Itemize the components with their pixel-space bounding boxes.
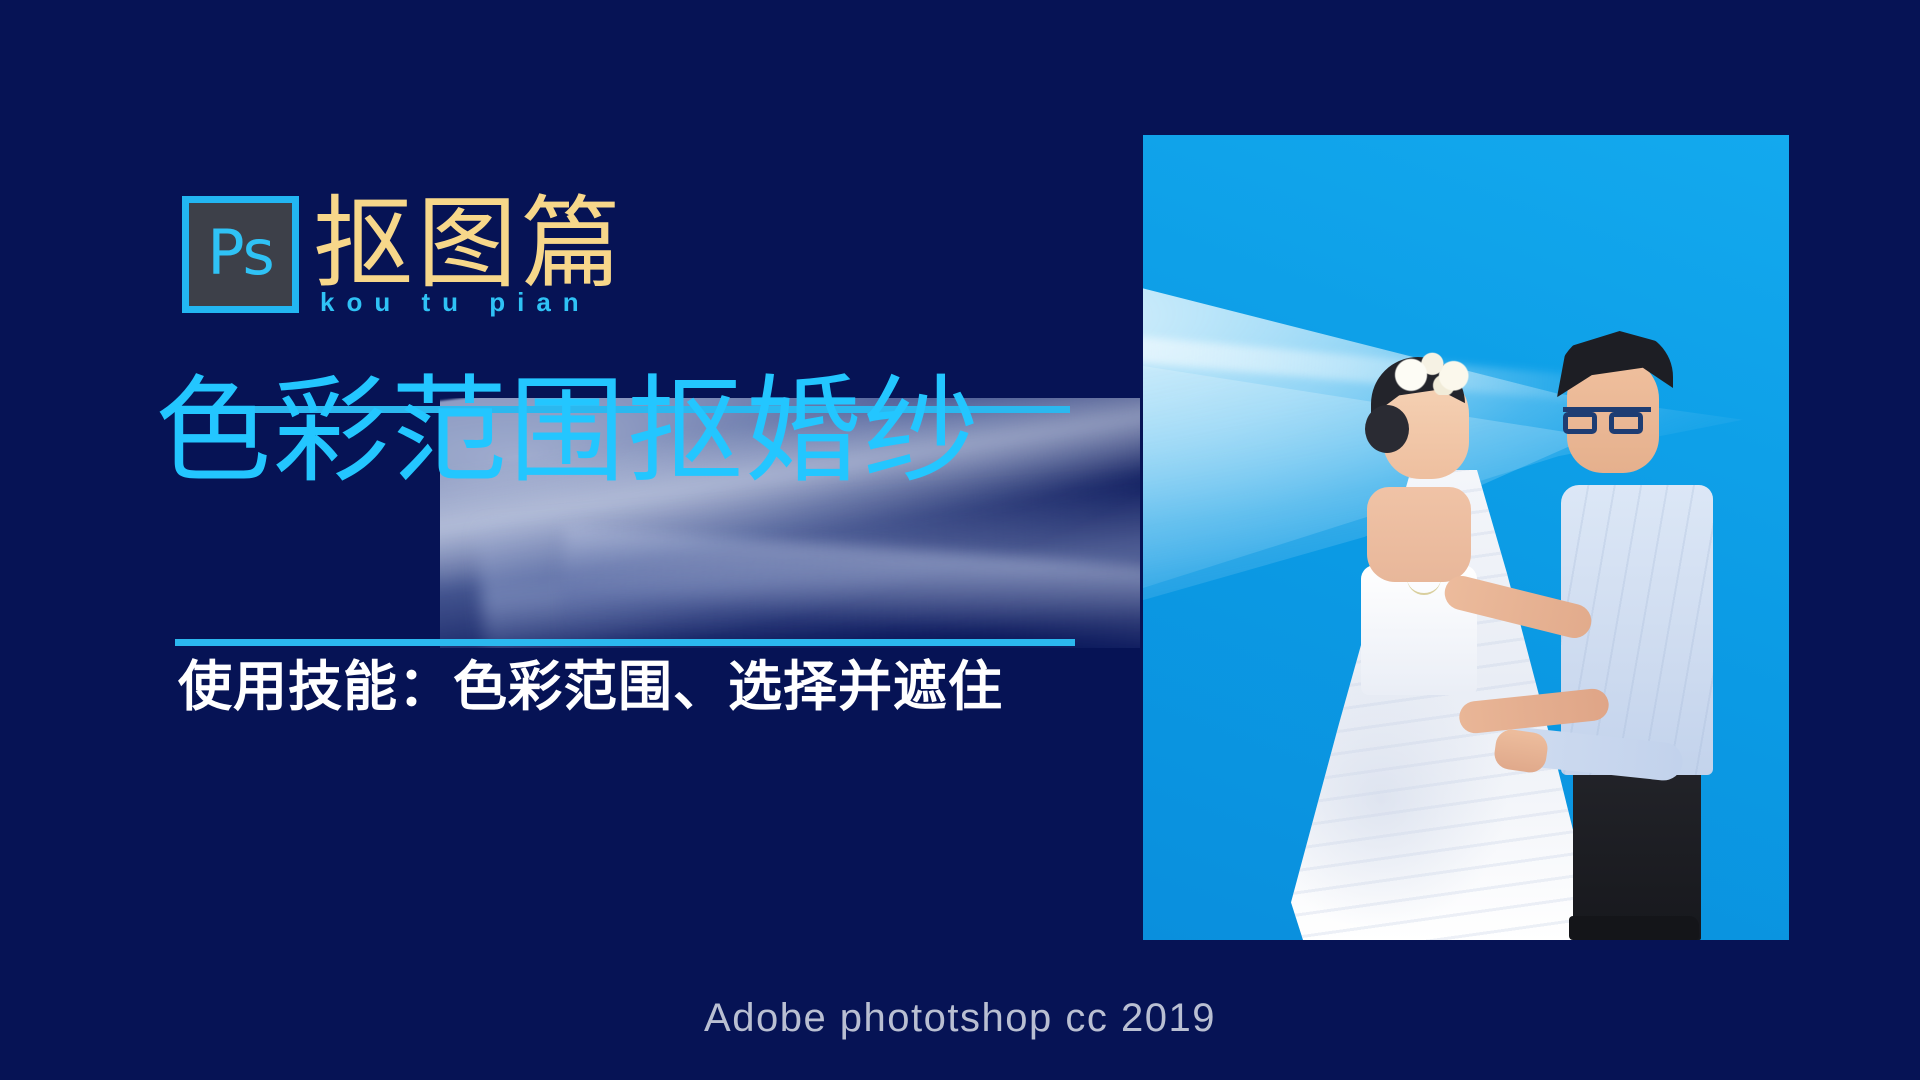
photoshop-logo-label: Ps <box>207 222 274 284</box>
footer-app-version: Adobe phototshop cc 2019 <box>0 996 1920 1041</box>
series-title-pinyin: kou tu pian <box>320 287 591 318</box>
groom-glasses-icon <box>1563 407 1651 434</box>
photoshop-logo-icon: Ps <box>182 196 299 313</box>
bottom-divider <box>175 639 1075 646</box>
skills-line: 使用技能：色彩范围、选择并遮住 <box>178 655 1003 720</box>
groom-shoe <box>1569 916 1699 940</box>
lesson-headline: 色彩范围抠婚纱 <box>155 368 981 496</box>
bride-hair-bun <box>1365 405 1409 453</box>
slide-canvas: Ps 抠图篇 kou tu pian 色彩范围抠婚纱 使用技能：色彩范围、选择并… <box>0 0 1920 1080</box>
bride-hair-flower <box>1393 347 1475 395</box>
series-title: 抠图篇 <box>313 191 625 297</box>
veil-fold-3 <box>556 526 1140 648</box>
wedding-couple-photo <box>1143 135 1789 940</box>
couple-figures <box>1143 135 1789 940</box>
